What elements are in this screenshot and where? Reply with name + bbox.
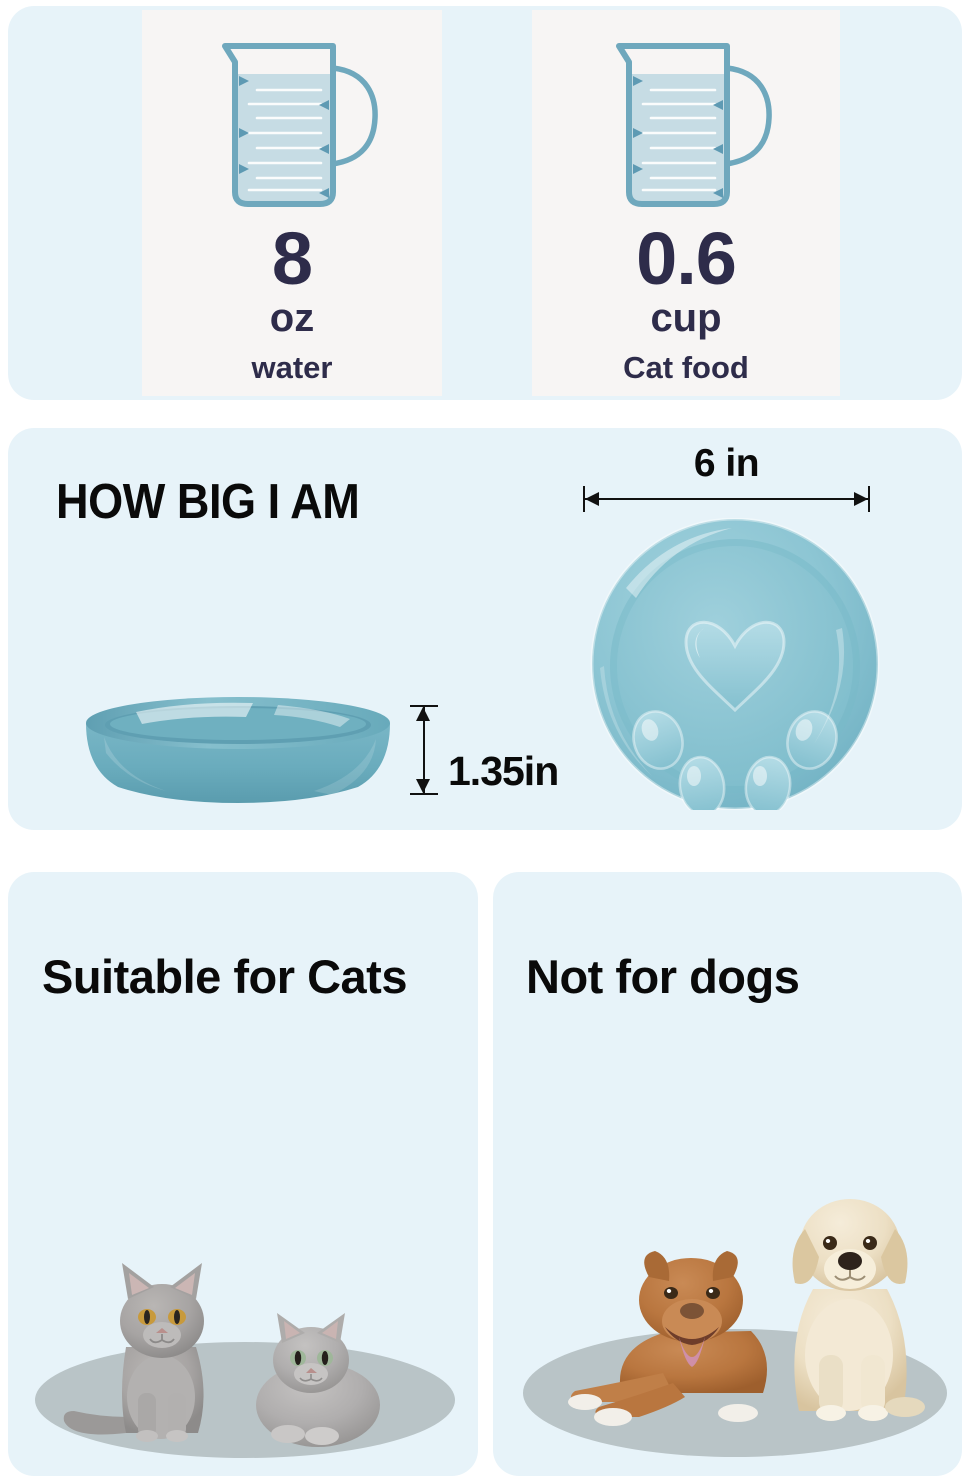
width-dimension-label: 6 in [583,442,870,486]
adult-cat [64,1263,204,1442]
pet-bowl-top-view-paw-heart [590,518,880,815]
two-dogs-photo [513,1125,953,1465]
measurement-card-water: 8 oz water [142,10,442,396]
measurements-panel: 8 oz water [8,6,962,400]
measurement-card-cat-food: 0.6 cup Cat food [532,10,840,396]
arrow-right-icon [854,492,868,506]
width-dimension-line [583,486,870,512]
not-for-dogs-title: Not for dogs [526,947,956,1007]
pet-bowl-side-view [78,695,398,810]
page-title: HOW BIG I AM [56,474,359,530]
measurement-amount: 8 [272,223,312,294]
measurement-unit: oz [270,296,314,340]
kitten [256,1313,380,1447]
suitable-for-cats-title: Suitable for Cats [42,947,462,1007]
measurement-substance: water [252,350,333,386]
height-dimension-line [410,705,438,795]
golden-retriever-dog [793,1199,925,1421]
measurement-substance: Cat food [623,350,749,386]
measurement-amount: 0.6 [636,223,736,294]
measuring-cup-icon [205,32,380,217]
arrow-up-icon [416,707,430,721]
measuring-cup-icon [599,32,774,217]
height-dimension-label: 1.35in [448,748,558,795]
measurement-unit: cup [650,296,721,340]
two-cats-photo [30,1225,460,1465]
product-infographic: 8 oz water [0,0,970,1484]
arrow-left-icon [585,492,599,506]
arrow-down-icon [416,779,430,793]
